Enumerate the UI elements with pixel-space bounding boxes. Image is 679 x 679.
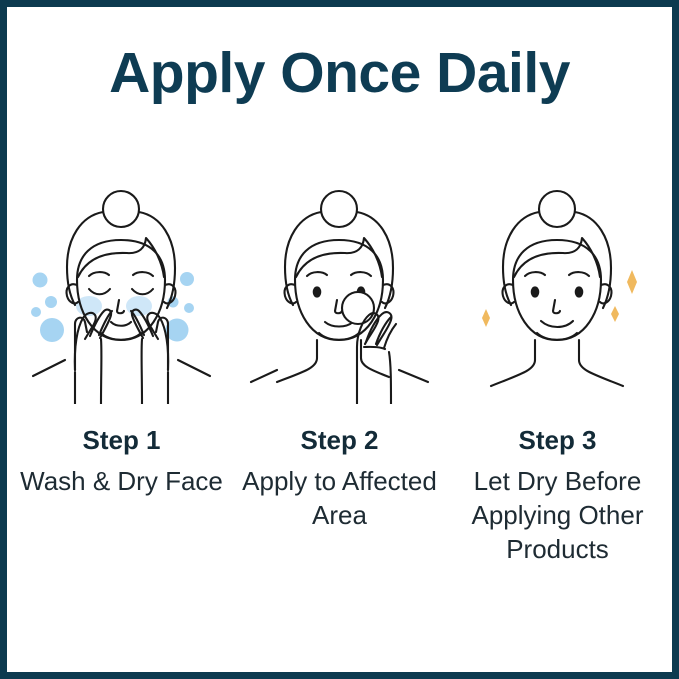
chin-curve xyxy=(101,333,141,340)
nose xyxy=(335,300,342,313)
shoulder-left xyxy=(33,360,65,376)
eye-left xyxy=(531,286,540,297)
page-title: Apply Once Daily xyxy=(7,40,672,106)
sparkle-group xyxy=(482,270,637,327)
hair-bun xyxy=(321,191,357,227)
mouth xyxy=(325,322,353,327)
nose xyxy=(117,300,124,313)
bubble-group-right xyxy=(166,272,195,342)
mouth xyxy=(111,322,131,326)
shoulder-left xyxy=(251,370,277,382)
sparkle-right-lower xyxy=(611,306,619,322)
fringe xyxy=(296,238,382,277)
face-outline xyxy=(295,240,383,340)
step-label-2: Step 2 xyxy=(300,426,378,455)
step-description-1: Wash & Dry Face xyxy=(20,464,223,498)
illustration-wash-face xyxy=(15,172,228,404)
face-outline xyxy=(513,240,601,340)
instruction-card: Apply Once Daily xyxy=(0,0,679,679)
neck-shoulder-right xyxy=(579,340,623,386)
step-card-1: Step 1 Wash & Dry Face xyxy=(15,172,228,498)
chin-curve xyxy=(319,333,359,340)
neck-shoulder-left xyxy=(277,340,317,382)
sparkle-right-upper xyxy=(627,270,637,294)
eyebrow-left xyxy=(307,272,327,276)
illustration-face-sparkles xyxy=(451,172,664,404)
bubble-group-left xyxy=(31,273,64,343)
eyebrow-left xyxy=(525,272,545,276)
eye-left xyxy=(313,286,322,297)
eye-closed-right xyxy=(132,289,153,294)
eyebrow-right xyxy=(351,272,371,276)
step-description-2: Apply to Affected Area xyxy=(235,464,445,533)
sparkle-left xyxy=(482,309,490,327)
nose xyxy=(553,300,560,313)
step-card-3: Step 3 Let Dry Before Applying Other Pro… xyxy=(451,172,664,567)
cotton-pad xyxy=(342,292,374,324)
step-card-2: Step 2 Apply to Affected Area xyxy=(233,172,446,532)
illustration-apply-cotton-pad xyxy=(233,172,446,404)
mouth xyxy=(541,321,573,327)
shoulder-right xyxy=(178,360,210,376)
chin-curve xyxy=(537,333,577,340)
eye-right xyxy=(575,286,584,297)
steps-row: Step 1 Wash & Dry Face xyxy=(7,172,672,567)
fringe xyxy=(78,238,164,277)
hair-bun xyxy=(103,191,139,227)
fringe xyxy=(514,238,600,277)
neck-shoulder-left xyxy=(491,340,535,386)
eyebrow-right xyxy=(133,272,153,276)
hair-bun xyxy=(539,191,575,227)
step-label-3: Step 3 xyxy=(518,426,596,455)
eyebrow-right xyxy=(569,272,589,276)
step-label-1: Step 1 xyxy=(82,426,160,455)
shoulder-right xyxy=(399,370,428,382)
step-description-3: Let Dry Before Applying Other Products xyxy=(453,464,663,567)
eyebrow-left xyxy=(89,272,109,276)
eye-closed-left xyxy=(89,289,110,294)
hand-left-thumbside xyxy=(75,318,87,370)
hand-right-thumbside xyxy=(156,318,168,370)
